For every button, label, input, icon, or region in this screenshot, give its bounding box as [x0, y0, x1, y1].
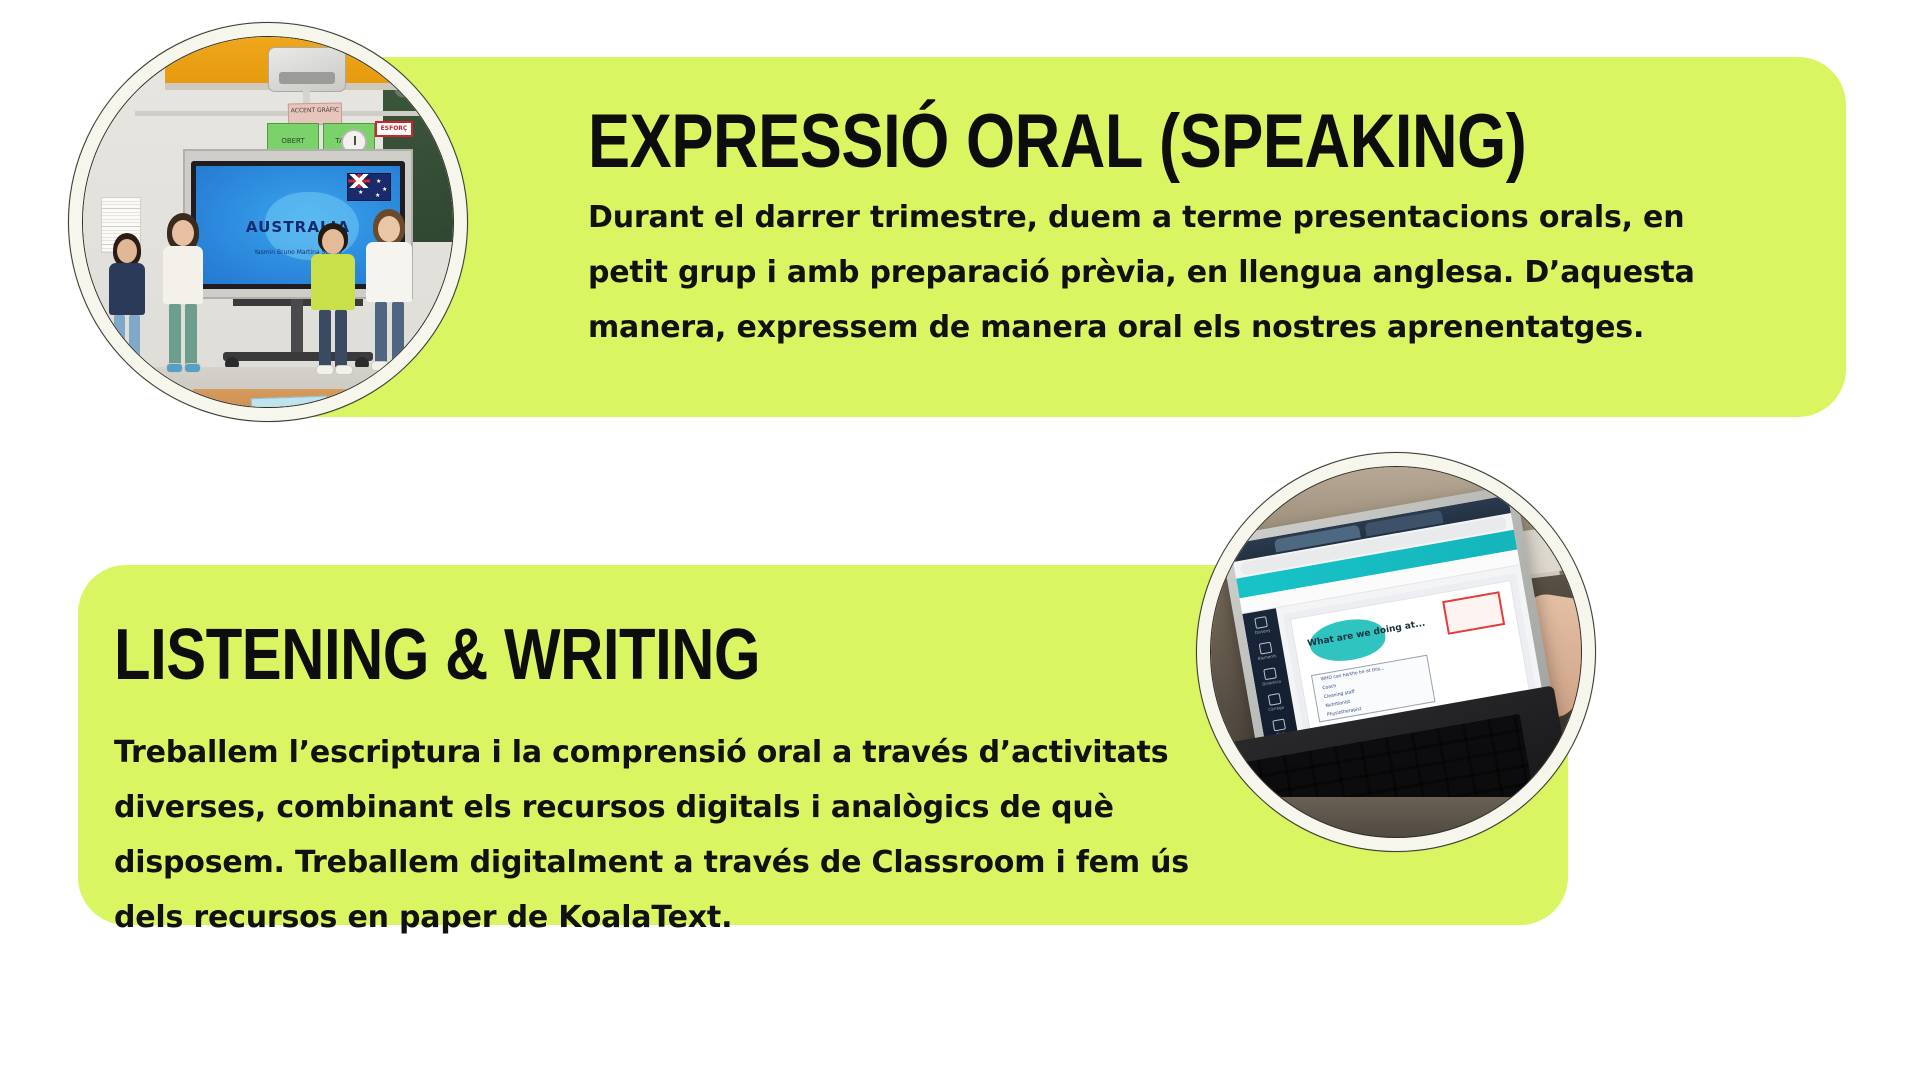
dynamics-icon — [1263, 667, 1277, 680]
sidebar-label: Dinàmica — [1261, 678, 1282, 686]
list-title: WHO can he/she be at this... — [1321, 666, 1385, 682]
sidebar-label: Elements — [1257, 653, 1278, 661]
list-item: Coach — [1322, 684, 1337, 691]
esforc-sign: ESFORÇ — [375, 121, 413, 137]
projector-icon — [268, 47, 346, 92]
student-figure — [305, 223, 361, 393]
flag-star: ★ — [382, 187, 387, 193]
upload-icon — [1268, 693, 1282, 706]
laptop-classroom-photo: Disseny Elements Dinàmica — [1196, 452, 1596, 852]
classroom-scene: ACCENT GRÀFIC OBERT TANCAT ESFORÇ ★ ★ ★ — [83, 37, 453, 407]
classroom-photo-inner: ACCENT GRÀFIC OBERT TANCAT ESFORÇ ★ ★ ★ — [82, 36, 454, 408]
body-listening-line-2: diverses, combinant els recursos digital… — [114, 780, 1074, 835]
australia-flag-icon: ★ ★ ★ ★ — [347, 173, 391, 201]
student-figure — [101, 233, 153, 383]
laptop-photo-inner: Disseny Elements Dinàmica — [1210, 466, 1582, 838]
desk-paper — [251, 396, 327, 408]
body-listening-line-3: disposem. Treballem digitalment a través… — [114, 835, 1074, 890]
sidebar-item-design: Disseny — [1250, 615, 1273, 638]
flag-star: ★ — [376, 179, 381, 185]
body-speaking: Durant el darrer trimestre, duem a terme… — [588, 190, 1578, 355]
list-item: Cleaning staff — [1324, 690, 1356, 700]
elements-icon — [1259, 642, 1273, 655]
sidebar-label: Càrrega — [1266, 704, 1287, 712]
body-speaking-line-1: Durant el darrer trimestre, duem a terme… — [588, 190, 1578, 245]
body-speaking-line-2: petit grup i amb preparació prèvia, en l… — [588, 245, 1578, 300]
union-jack-icon — [348, 174, 370, 188]
poster-canvas: EXPRESSIÓ ORAL (SPEAKING) Durant el darr… — [0, 0, 1920, 1080]
list-item: Nutritionist — [1325, 700, 1351, 709]
heading-speaking: EXPRESSIÓ ORAL (SPEAKING) — [588, 104, 1526, 180]
student-figure — [155, 213, 211, 391]
student-figure — [359, 209, 419, 395]
laptop-scene: Disseny Elements Dinàmica — [1211, 467, 1581, 837]
desk-edge — [1211, 797, 1581, 837]
design-icon — [1254, 616, 1268, 629]
body-listening-line-4: dels recursos en paper de KoalaText. — [114, 890, 1074, 945]
classroom-presentation-photo: ACCENT GRÀFIC OBERT TANCAT ESFORÇ ★ ★ ★ — [68, 22, 468, 422]
flag-star: ★ — [358, 190, 363, 196]
body-speaking-line-3: manera, expressem de manera oral els nos… — [588, 300, 1578, 355]
body-listening: Treballem l’escriptura i la comprensió o… — [114, 725, 1074, 945]
red-highlight-box — [1442, 591, 1505, 635]
board-post — [291, 299, 303, 357]
flag-star: ★ — [375, 193, 380, 199]
sidebar-item-upload: Càrrega — [1264, 692, 1287, 715]
text-icon — [1272, 719, 1286, 732]
sidebar-item-elements: Elements — [1255, 641, 1278, 664]
sidebar-item-dynamics: Dinàmica — [1259, 667, 1282, 690]
body-listening-line-1: Treballem l’escriptura i la comprensió o… — [114, 725, 1074, 780]
list-item: Physiotherapist — [1327, 707, 1362, 718]
sidebar-label: Disseny — [1252, 627, 1273, 635]
heading-listening: LISTENING & WRITING — [114, 619, 760, 691]
